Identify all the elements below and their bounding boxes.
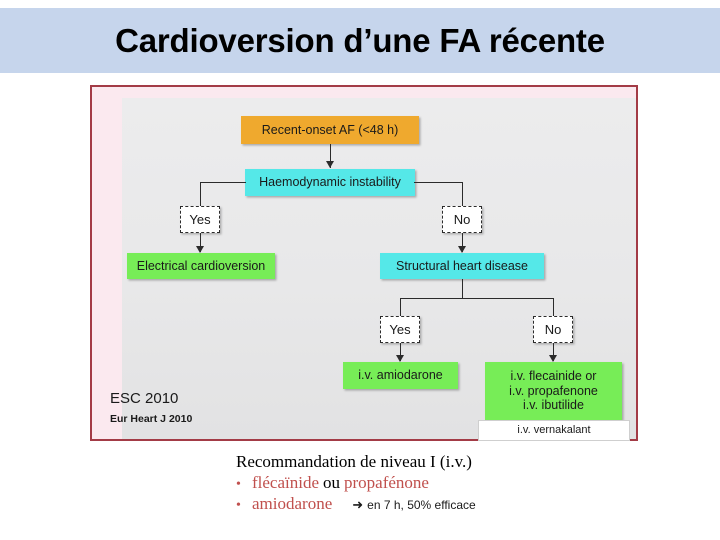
flow-decision-yes-structural: Yes bbox=[380, 316, 420, 343]
connector-structural-stem bbox=[462, 279, 463, 299]
efficacy-note: ➜en 7 h, 50% efficace bbox=[352, 497, 475, 513]
arrowhead-yes-to-electrical bbox=[196, 246, 204, 253]
drug-propafenone: propafénone bbox=[344, 473, 429, 493]
connector-structural-split bbox=[400, 298, 554, 299]
bullet-glyph: • bbox=[236, 477, 252, 493]
flow-node-structural-heart-disease: Structural heart disease bbox=[380, 253, 544, 279]
connector-haemodynamic-left bbox=[200, 182, 246, 183]
conjunction-ou: ou bbox=[323, 473, 340, 493]
drug-amiodarone: amiodarone bbox=[252, 494, 332, 514]
source-journal: Eur Heart J 2010 bbox=[110, 413, 192, 425]
page-title: Cardioversion d’une FA récente bbox=[115, 22, 605, 60]
flow-node-haemodynamic-instability: Haemodynamic instability bbox=[245, 169, 415, 196]
connector-structural-right-drop bbox=[553, 298, 554, 316]
arrow-icon: ➜ bbox=[352, 497, 363, 512]
slide-title-band: Cardioversion d’une FA récente bbox=[0, 8, 720, 73]
connector-haemodynamic-right bbox=[414, 182, 463, 183]
flow-decision-no-haemodynamic: No bbox=[442, 206, 482, 233]
bullet-glyph: • bbox=[236, 498, 252, 514]
flow-node-recent-onset-af: Recent-onset AF (<48 h) bbox=[241, 116, 419, 144]
connector-haemodynamic-right-drop bbox=[462, 182, 463, 206]
flow-node-iv-vernakalant: i.v. vernakalant bbox=[478, 420, 630, 441]
flow-node-iv-antiarrhythmics: i.v. flecainide or i.v. propafenone i.v.… bbox=[485, 362, 622, 420]
flow-decision-yes-haemodynamic: Yes bbox=[180, 206, 220, 233]
connector-structural-left-drop bbox=[400, 298, 401, 316]
flow-node-electrical-cardioversion: Electrical cardioversion bbox=[127, 253, 275, 279]
recommendation-item-amiodarone: • amiodarone ➜en 7 h, 50% efficace bbox=[236, 494, 666, 514]
flow-decision-no-structural: No bbox=[533, 316, 573, 343]
arrowhead-onset-to-haemodynamic bbox=[326, 161, 334, 168]
arrowhead-yes-to-amiodarone bbox=[396, 355, 404, 362]
drug-flecainide: flécaïnide bbox=[252, 473, 319, 493]
connector-haemodynamic-left-drop bbox=[200, 182, 201, 206]
source-guideline: ESC 2010 bbox=[110, 390, 178, 407]
recommendation-item-flecainide: • flécaïnide ou propafénone bbox=[236, 473, 666, 493]
recommendation-block: Recommandation de niveau I (i.v.) • fléc… bbox=[236, 452, 666, 514]
recommendation-heading: Recommandation de niveau I (i.v.) bbox=[236, 452, 666, 472]
figure-frame: Recent-onset AF (<48 h) Haemodynamic ins… bbox=[90, 85, 638, 441]
flowchart-panel: Recent-onset AF (<48 h) Haemodynamic ins… bbox=[122, 98, 636, 439]
efficacy-text: en 7 h, 50% efficace bbox=[367, 498, 476, 512]
flow-node-iv-amiodarone: i.v. amiodarone bbox=[343, 362, 458, 389]
arrowhead-no-to-antiarrhythmics bbox=[549, 355, 557, 362]
arrowhead-no-to-structural bbox=[458, 246, 466, 253]
